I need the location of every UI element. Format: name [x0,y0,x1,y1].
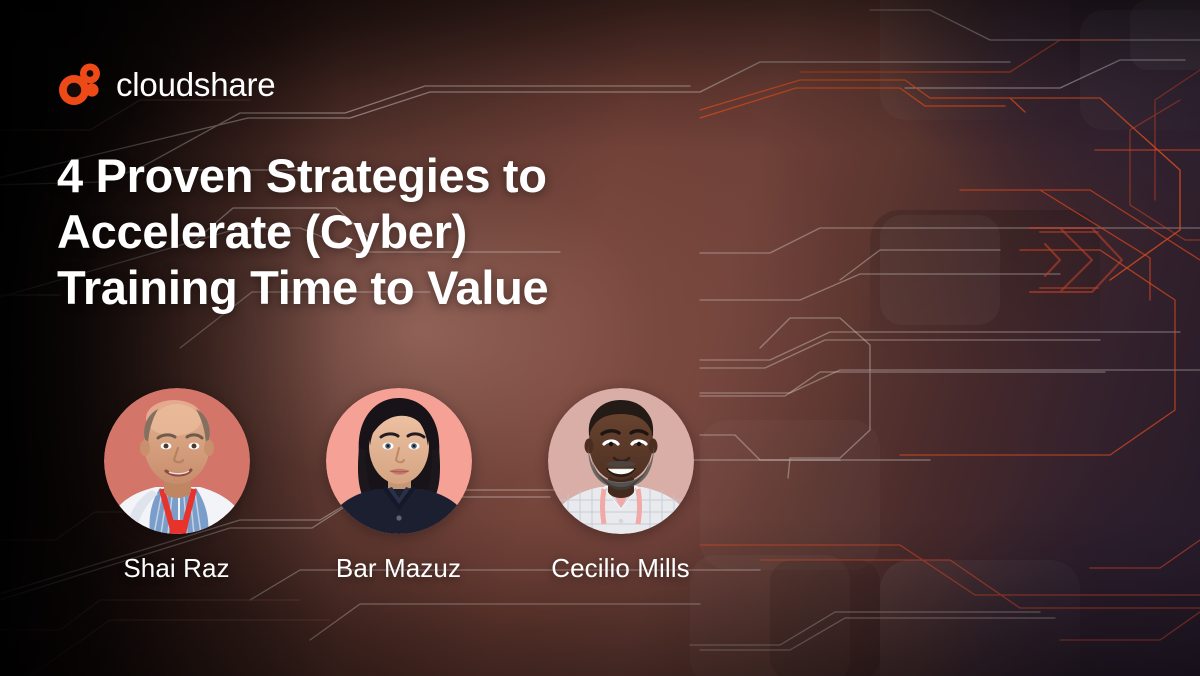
avatar-photo-shai-raz [104,388,250,534]
page-title-line-2: Accelerate (Cyber) [57,204,717,260]
avatar [326,388,472,534]
speaker-card: Cecilio Mills [508,388,733,581]
speaker-name: Cecilio Mills [551,555,690,581]
speaker-card: Shai Raz [64,388,289,581]
page-title-line-1: 4 Proven Strategies to [57,148,717,204]
cloudshare-wordmark: cloudshare [116,68,275,101]
speaker-list: Shai Raz [57,388,733,581]
avatar [548,388,694,534]
speaker-name: Shai Raz [123,555,229,581]
cloudshare-circles-icon [57,62,103,106]
page-title-line-3: Training Time to Value [57,260,717,316]
page-title: 4 Proven Strategies to Accelerate (Cyber… [57,148,717,316]
cloudshare-logo[interactable]: cloudshare [57,62,275,106]
webinar-title-slide: cloudshare 4 Proven Strategies to Accele… [0,0,1200,676]
speaker-card: Bar Mazuz [286,388,511,581]
avatar-photo-bar-mazuz [326,388,472,534]
avatar-photo-cecilio-mills [548,388,694,534]
speaker-name: Bar Mazuz [336,555,461,581]
avatar [104,388,250,534]
